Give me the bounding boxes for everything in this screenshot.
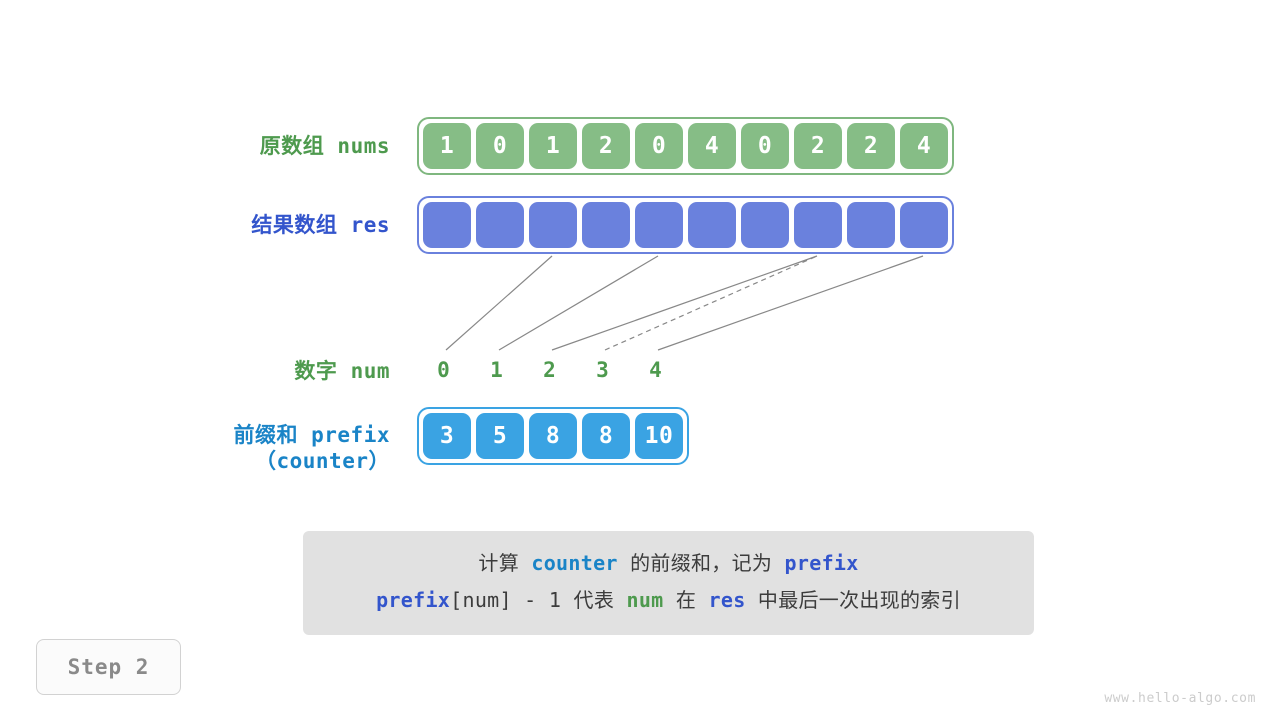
connector-line [658,256,923,350]
connector-line [499,256,658,350]
res-cell [847,202,895,248]
prefix-row-label-sub: （counter） [120,448,390,474]
num-digit: 3 [576,358,629,382]
res-cell [476,202,524,248]
res-cell [900,202,948,248]
connector-line [605,256,817,350]
prefix-cell: 8 [529,413,577,459]
res-cell [794,202,842,248]
prefix-array: 358810 [417,407,689,465]
prefix-cell: 10 [635,413,683,459]
num-digit: 4 [629,358,682,382]
res-cell [423,202,471,248]
res-cell [688,202,736,248]
figure-canvas: 原数组 nums 1012040224 结果数组 res 数字 num 0123… [0,0,1280,720]
caption-segment: 中最后一次出现的索引 [746,588,961,612]
nums-cell: 0 [476,123,524,169]
num-row-label: 数字 num [120,358,390,384]
nums-cell: 1 [423,123,471,169]
res-cell [741,202,789,248]
watermark: www.hello-algo.com [1104,691,1256,706]
caption-segment: 计算 [478,551,531,575]
caption-box: 计算 counter 的前缀和，记为 prefix prefix[num] - … [303,531,1034,635]
nums-cell: 2 [794,123,842,169]
caption-segment: [num] - 1 代表 [450,588,626,612]
prefix-cell: 5 [476,413,524,459]
prefix-cell: 8 [582,413,630,459]
res-row-label: 结果数组 res [120,212,390,238]
prefix-row-label-main: 前缀和 prefix [233,423,390,447]
caption-segment: 的前缀和，记为 [618,551,785,575]
nums-array: 1012040224 [417,117,954,175]
num-digit: 1 [470,358,523,382]
prefix-row-label: 前缀和 prefix （counter） [120,422,390,475]
num-digits-row: 01234 [417,358,682,382]
nums-cell: 0 [741,123,789,169]
connector-line [446,256,552,350]
caption-segment: num [627,588,664,612]
nums-row-label: 原数组 nums [120,133,390,159]
res-cell [582,202,630,248]
step-badge: Step 2 [36,639,181,695]
nums-cell: 2 [847,123,895,169]
caption-segment: prefix [376,588,450,612]
caption-line-2: prefix[num] - 1 代表 num 在 res 中最后一次出现的索引 [321,582,1016,619]
caption-segment: res [709,588,746,612]
caption-segment: counter [531,551,617,575]
nums-cell: 2 [582,123,630,169]
res-array [417,196,954,254]
res-cell [635,202,683,248]
num-digit: 0 [417,358,470,382]
caption-segment: 在 [664,588,709,612]
nums-cell: 1 [529,123,577,169]
prefix-cell: 3 [423,413,471,459]
caption-line-1: 计算 counter 的前缀和，记为 prefix [321,545,1016,582]
nums-cell: 0 [635,123,683,169]
connector-line [552,256,817,350]
nums-cell: 4 [900,123,948,169]
caption-segment: prefix [785,551,859,575]
num-digit: 2 [523,358,576,382]
res-cell [529,202,577,248]
nums-cell: 4 [688,123,736,169]
